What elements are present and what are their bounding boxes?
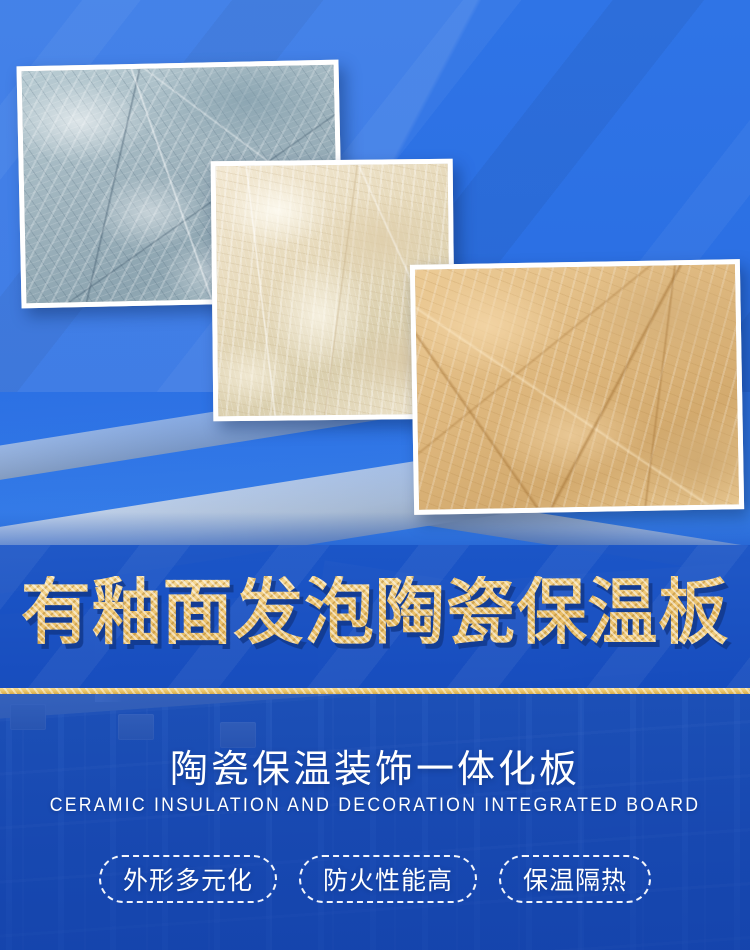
headline-title: 有釉面发泡陶瓷保温板: [11, 576, 739, 648]
subtitle-chinese: 陶瓷保温装饰一体化板: [0, 738, 750, 793]
subtitle-english: CERAMIC INSULATION AND DECORATION INTEGR…: [26, 795, 724, 817]
feature-badge-list: 外形多元化 防火性能高 保温隔热: [0, 855, 750, 903]
feature-badge-1[interactable]: 外形多元化: [99, 855, 277, 903]
feature-badge-2[interactable]: 防火性能高: [299, 855, 477, 903]
product-sample-tile-3[interactable]: [410, 259, 744, 515]
gold-divider-rule: [0, 688, 750, 694]
promo-banner: 有釉面发泡陶瓷保温板 陶瓷保温装饰一体化板 CERAMIC INSULATION…: [0, 0, 750, 950]
feature-badge-3[interactable]: 保温隔热: [499, 855, 651, 903]
golden-marble-veins: [415, 264, 739, 510]
